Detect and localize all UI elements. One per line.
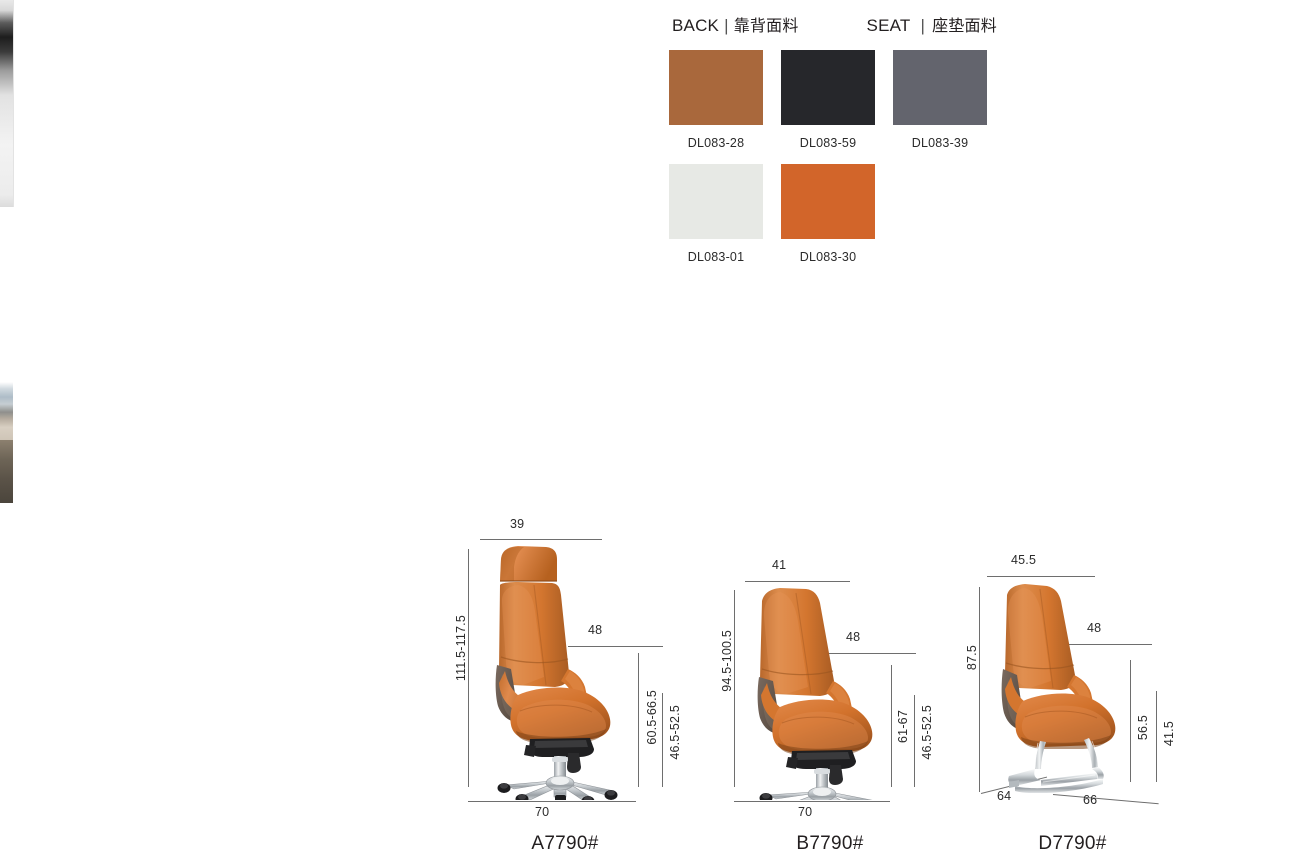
model-diagrams: 39 111.5-117.5 48 60.5-66.5 46.5-52.5 70… xyxy=(0,505,1295,863)
dim-seat-height-b: 46.5-52.5 xyxy=(920,705,934,760)
fabric-swatch-chip[interactable] xyxy=(781,164,875,239)
fabric-swatch-code: DL083-59 xyxy=(772,136,884,150)
fabric-header-seat: SEAT | 座垫面料 xyxy=(867,12,997,36)
fabric-header-back-en: BACK xyxy=(672,16,719,36)
dim-line-seat-height-d xyxy=(1156,691,1157,782)
fabric-swatch-code: DL083-39 xyxy=(884,136,996,150)
dim-line-total-height-b xyxy=(734,590,735,787)
fabric-swatch-chip[interactable] xyxy=(781,50,875,125)
dim-seat-height-a: 46.5-52.5 xyxy=(668,705,682,760)
dim-line-total-height-a xyxy=(468,549,469,787)
fabric-swatch-item[interactable]: DL083-28 xyxy=(660,50,772,150)
dim-line-base-width-a xyxy=(468,801,636,802)
fabric-header-seat-cn: 座垫面料 xyxy=(932,12,997,36)
dim-total-height-b: 94.5-100.5 xyxy=(720,630,734,692)
fabric-swatch-code: DL083-30 xyxy=(772,250,884,264)
fabric-swatch-item[interactable]: DL083-39 xyxy=(884,50,996,150)
chair-illustration-d7790 xyxy=(985,583,1150,793)
dim-line-top-width-d xyxy=(987,576,1095,577)
dim-line-total-height-d xyxy=(979,587,980,792)
dim-line-top-width-b xyxy=(745,581,850,582)
dim-total-height-a: 111.5-117.5 xyxy=(454,615,468,681)
fabric-swatch-chip[interactable] xyxy=(669,50,763,125)
model-diagram-b7790: 41 94.5-100.5 48 61-67 46.5-52.5 70 B779… xyxy=(710,505,950,863)
model-diagram-a7790: 39 111.5-117.5 48 60.5-66.5 46.5-52.5 70… xyxy=(440,505,690,863)
fabric-swatch-grid: DL083-28 DL083-59 DL083-39 DL083-01 DL08… xyxy=(660,50,1000,278)
fabric-swatch-item[interactable]: DL083-59 xyxy=(772,50,884,150)
fabric-swatch-chip[interactable] xyxy=(669,164,763,239)
page-bleed-lower xyxy=(0,440,13,503)
dim-base-width-a: 70 xyxy=(535,805,549,819)
dim-line-seat-height-b xyxy=(914,695,915,787)
page-bleed-middle xyxy=(0,382,13,440)
model-diagram-d7790: 45.5 87.5 48 56.5 41.5 64 66 D7790# xyxy=(955,505,1190,863)
dim-line-base-width-d xyxy=(1053,794,1159,804)
fabric-header-back-divider: | xyxy=(724,16,729,36)
dim-base-width-b: 70 xyxy=(798,805,812,819)
fabric-header-back: BACK | 靠背面料 xyxy=(672,12,799,36)
fabric-swatch-code: DL083-01 xyxy=(660,250,772,264)
dim-seat-height-d: 41.5 xyxy=(1162,721,1176,746)
dim-total-height-d: 87.5 xyxy=(965,645,979,670)
dim-line-seat-height-a xyxy=(662,693,663,787)
fabric-swatch-code: DL083-28 xyxy=(660,136,772,150)
fabric-header-seat-divider: | xyxy=(920,16,925,36)
model-name-b7790: B7790# xyxy=(710,833,950,855)
model-name-d7790: D7790# xyxy=(955,833,1190,855)
chair-illustration-a7790 xyxy=(478,545,653,800)
fabric-swatch-item[interactable]: DL083-01 xyxy=(660,164,772,264)
page-bleed-top xyxy=(0,0,14,207)
fabric-header-back-cn: 靠背面料 xyxy=(734,12,799,36)
dim-line-top-width-a xyxy=(480,539,602,540)
fabric-section: BACK | 靠背面料 SEAT | 座垫面料 DL083-28 DL083-5… xyxy=(660,12,1080,278)
fabric-swatch-item[interactable]: DL083-30 xyxy=(772,164,884,264)
dim-top-width-a: 39 xyxy=(510,517,524,531)
fabric-header-seat-en: SEAT xyxy=(867,16,911,36)
dim-base-width-d: 66 xyxy=(1083,793,1097,807)
chair-illustration-b7790 xyxy=(742,585,907,800)
dim-top-width-b: 41 xyxy=(772,558,786,572)
dim-top-width-d: 45.5 xyxy=(1011,553,1036,567)
dim-line-base-width-b xyxy=(734,801,890,802)
fabric-swatch-chip[interactable] xyxy=(893,50,987,125)
model-name-a7790: A7790# xyxy=(440,833,690,855)
fabric-headers: BACK | 靠背面料 SEAT | 座垫面料 xyxy=(660,12,1080,36)
